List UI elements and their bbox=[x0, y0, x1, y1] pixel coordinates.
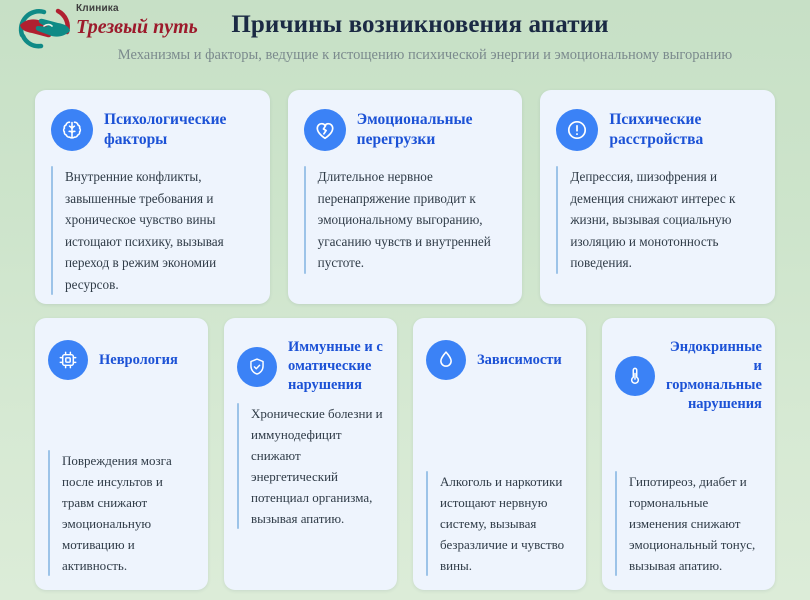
card-header: Иммунные и соматические нарушения bbox=[237, 338, 383, 395]
card-spacer bbox=[615, 414, 761, 471]
card-header: Неврология bbox=[48, 338, 194, 382]
cpu-chip-icon bbox=[48, 340, 88, 380]
card-body: Длительное нервное перенапряжение привод… bbox=[318, 166, 507, 274]
cards-row-bottom: Неврология Повреждения мозга после инсул… bbox=[0, 304, 810, 590]
card-body-wrap: Депрессия, шизофрения и деменция снижают… bbox=[556, 166, 759, 274]
water-drop-icon bbox=[426, 340, 466, 380]
logo-clinic-word: Клиника bbox=[76, 3, 206, 15]
card-body: Гипотиреоз, диабет и гормональные измене… bbox=[629, 471, 761, 576]
accent-bar bbox=[556, 166, 558, 274]
card-header: Зависимости bbox=[426, 338, 572, 382]
logo-text-block: Клиника Трезвый путь bbox=[76, 3, 206, 38]
logo-clinic-name: Трезвый путь bbox=[76, 16, 206, 38]
accent-bar bbox=[615, 471, 617, 576]
accent-bar bbox=[304, 166, 306, 274]
card-body: Депрессия, шизофрения и деменция снижают… bbox=[570, 166, 759, 274]
card-spacer bbox=[48, 382, 194, 450]
card-body-wrap: Внутренние конфликты, завышенные требова… bbox=[51, 166, 254, 295]
infographic-page: Клиника Трезвый путь Причины возникновен… bbox=[0, 0, 810, 600]
card-body-wrap: Длительное нервное перенапряжение привод… bbox=[304, 166, 507, 274]
card-title: Эмоциональные перегрузки bbox=[357, 110, 507, 150]
card-body-wrap: Повреждения мозга после инсультов и трав… bbox=[48, 450, 194, 576]
card-title: Психические расстройства bbox=[609, 110, 759, 150]
card-endocrine-hormonal[interactable]: Эндокринные и гормональные нарушения Гип… bbox=[602, 318, 775, 590]
card-header: Эндокринные и гормональные нарушения bbox=[615, 338, 761, 414]
card-psychological-factors[interactable]: Психологические факторы Внутренние конфл… bbox=[35, 90, 270, 304]
card-body: Повреждения мозга после инсультов и трав… bbox=[62, 450, 194, 576]
card-emotional-overload[interactable]: Эмоциональные перегрузки Длительное нерв… bbox=[288, 90, 523, 304]
shield-check-icon bbox=[237, 347, 277, 387]
helping-hands-logo-icon bbox=[14, 5, 78, 49]
card-title: Психологические факторы bbox=[104, 110, 254, 150]
card-body-wrap: Гипотиреоз, диабет и гормональные измене… bbox=[615, 471, 761, 576]
card-title: Неврология bbox=[99, 351, 178, 370]
thermometer-icon bbox=[615, 356, 655, 396]
card-body: Внутренние конфликты, завышенные требова… bbox=[65, 166, 254, 295]
card-header: Психические расстройства bbox=[556, 108, 759, 152]
card-header: Психологические факторы bbox=[51, 108, 254, 152]
clinic-logo[interactable]: Клиника Трезвый путь bbox=[14, 3, 204, 49]
page-header: Клиника Трезвый путь Причины возникновен… bbox=[0, 0, 810, 76]
broken-heart-icon bbox=[304, 109, 346, 151]
card-body-wrap: Алкоголь и наркотики истощают нервную си… bbox=[426, 471, 572, 576]
card-immune-somatic[interactable]: Иммунные и соматические нарушения Хронич… bbox=[224, 318, 397, 590]
brain-icon bbox=[51, 109, 93, 151]
accent-bar bbox=[51, 166, 53, 295]
card-mental-disorders[interactable]: Психические расстройства Депрессия, шизо… bbox=[540, 90, 775, 304]
accent-bar bbox=[237, 403, 239, 529]
card-title: Зависимости bbox=[477, 351, 562, 370]
card-header: Эмоциональные перегрузки bbox=[304, 108, 507, 152]
accent-bar bbox=[48, 450, 50, 576]
card-addictions[interactable]: Зависимости Алкоголь и наркотики истощаю… bbox=[413, 318, 586, 590]
card-spacer bbox=[426, 382, 572, 471]
card-title: Иммунные и соматические нарушения bbox=[288, 338, 383, 395]
accent-bar bbox=[426, 471, 428, 576]
card-title: Эндокринные и гормональные нарушения bbox=[666, 338, 762, 414]
card-neurology[interactable]: Неврология Повреждения мозга после инсул… bbox=[35, 318, 208, 590]
card-body: Хронические болезни и иммунодефицит сниж… bbox=[251, 403, 383, 529]
card-body-wrap: Хронические болезни и иммунодефицит сниж… bbox=[237, 403, 383, 529]
card-body: Алкоголь и наркотики истощают нервную си… bbox=[440, 471, 572, 576]
alert-circle-icon bbox=[556, 109, 598, 151]
cards-row-top: Психологические факторы Внутренние конфл… bbox=[0, 76, 810, 304]
